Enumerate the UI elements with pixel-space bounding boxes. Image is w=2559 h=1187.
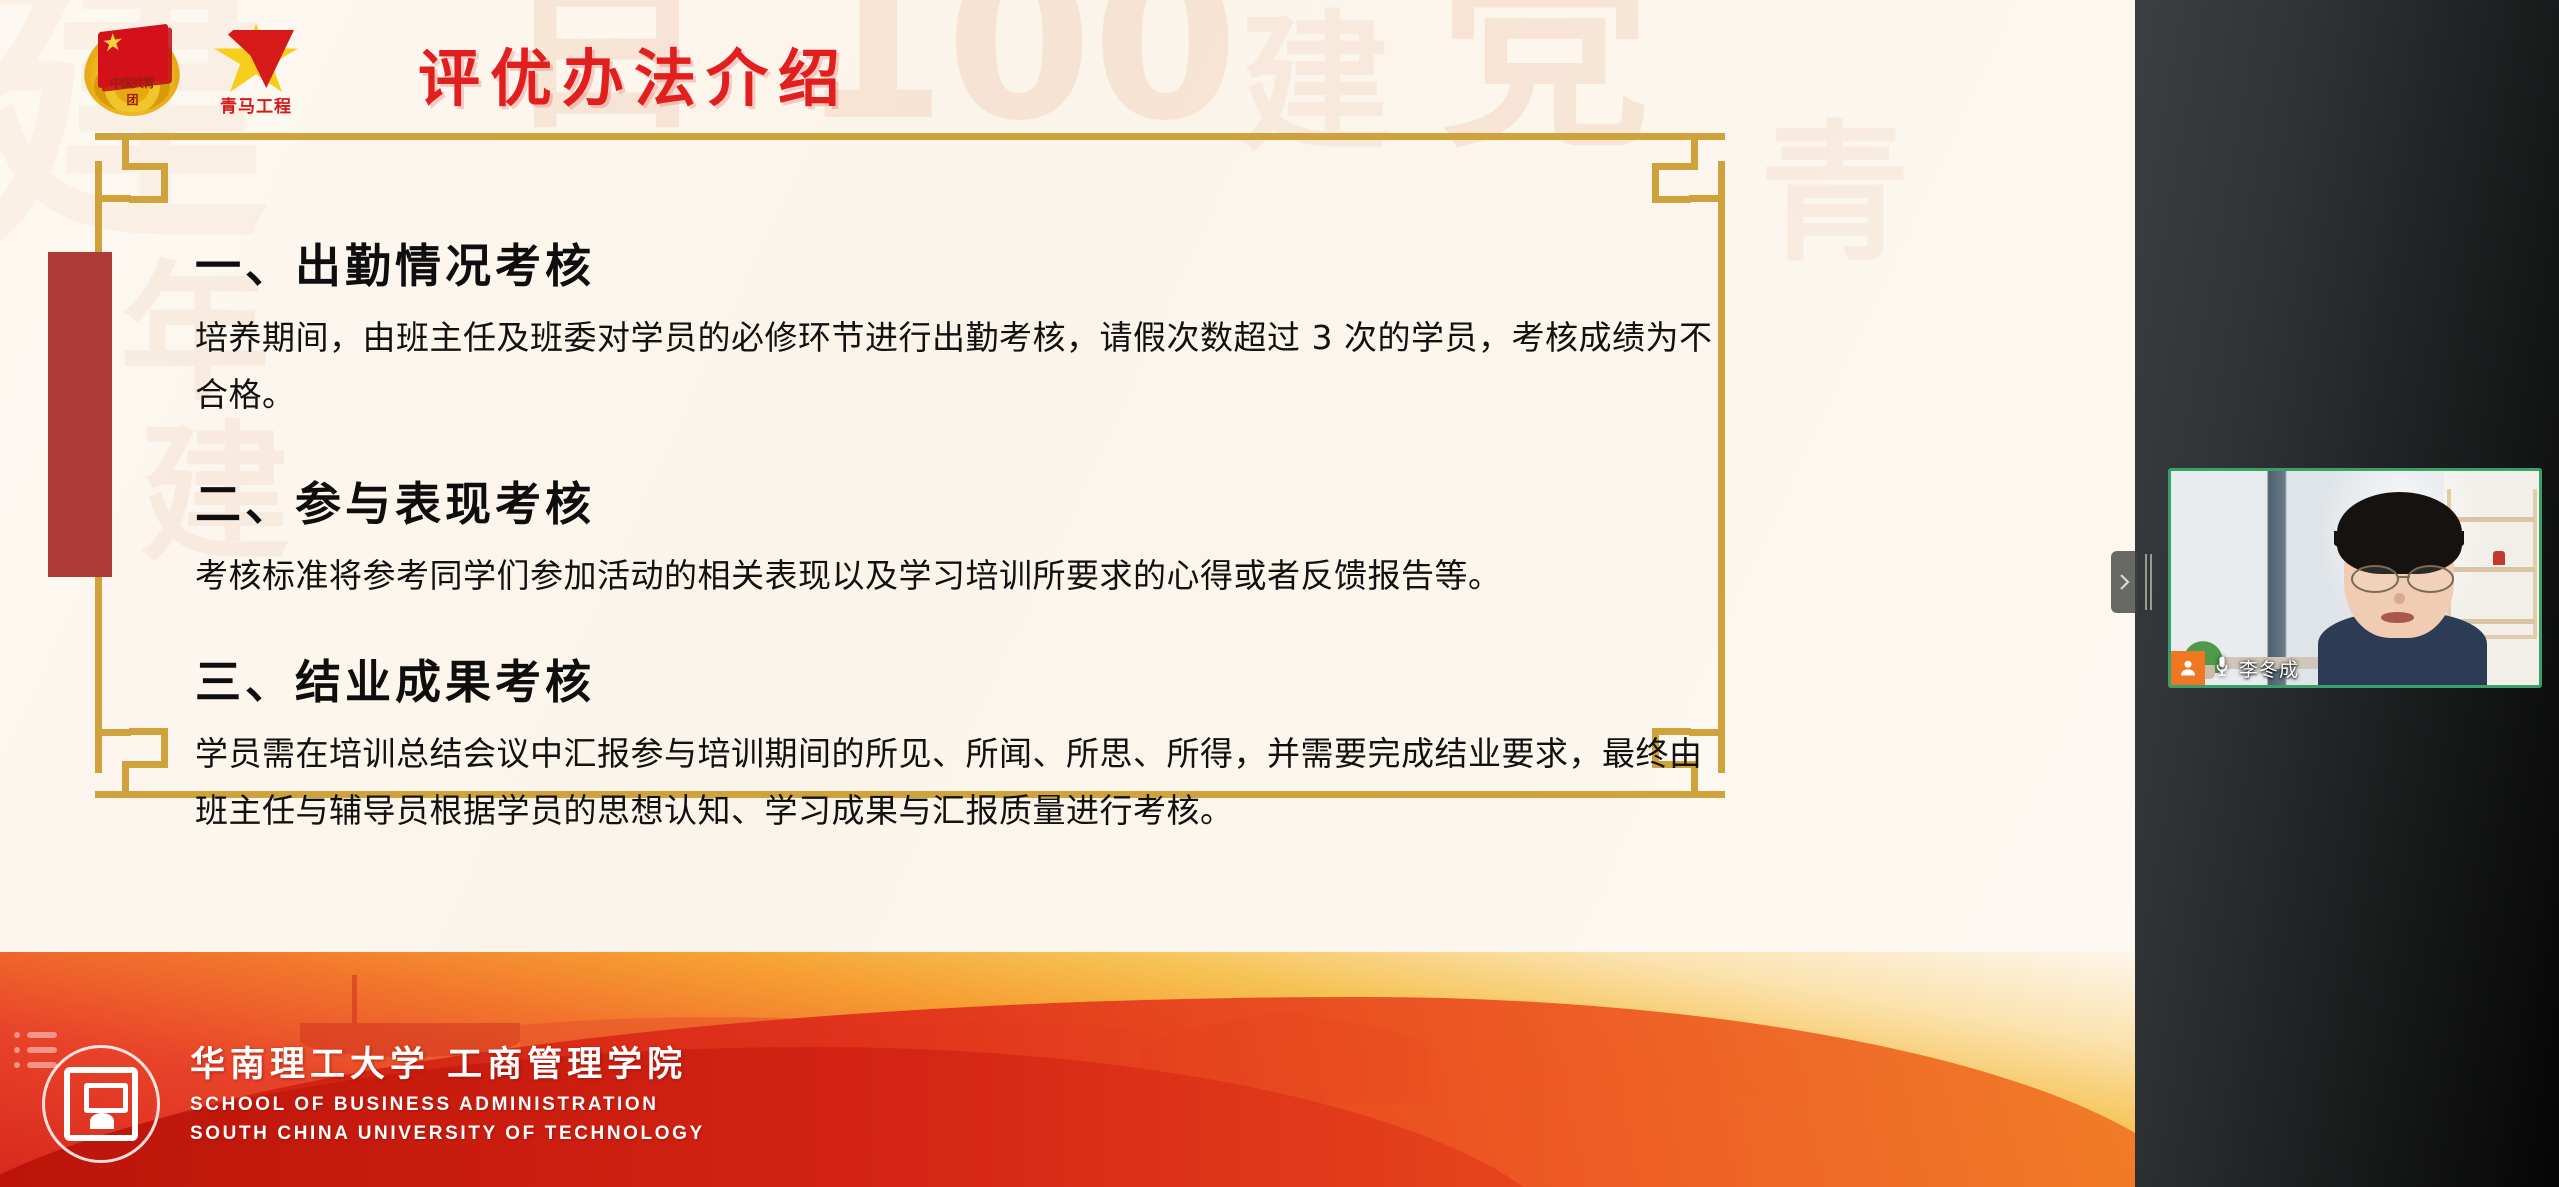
slide-list-overlay-icon[interactable] <box>14 1022 70 1078</box>
qingma-logo-label: 青马工程 <box>210 92 302 117</box>
participant-video-tile[interactable]: 李冬成 <box>2168 468 2542 688</box>
emblem-label: 中国共青团 <box>108 74 156 108</box>
participant-name: 李冬成 <box>2239 655 2299 682</box>
section-body: 学员需在培训总结会议中汇报参与培训期间的所见、所闻、所思、所得，并需要完成结业要… <box>195 726 1715 840</box>
frame-corner-ornament <box>89 127 175 207</box>
footer-text-block: 华南理工大学 工商管理学院 SCHOOL OF BUSINESS ADMINIS… <box>190 1036 705 1145</box>
frame-corner-ornament <box>1645 127 1731 207</box>
microphone-icon <box>2213 655 2231 677</box>
person-icon <box>2178 658 2198 678</box>
slide-content: 一、出勤情况考核 培养期间，由班主任及班委对学员的必修环节进行出勤考核，请假次数… <box>195 230 1715 866</box>
university-name-cn: 华南理工大学 工商管理学院 <box>190 1036 705 1087</box>
university-name-en-line2: SOUTH CHINA UNIVERSITY OF TECHNOLOGY <box>190 1123 705 1145</box>
chevron-right-icon <box>2117 572 2131 592</box>
section-heading: 二、参与表现考核 <box>195 468 1715 534</box>
participant-nameplate: 李冬成 <box>2171 651 2299 685</box>
qingma-program-logo-icon: 青马工程 <box>210 24 302 118</box>
panel-resize-handle[interactable] <box>2143 549 2153 615</box>
section-body: 培养期间，由班主任及班委对学员的必修环节进行出勤考核，请假次数超过 3 次的学员… <box>195 310 1715 424</box>
section-attendance: 一、出勤情况考核 培养期间，由班主任及班委对学员的必修环节进行出勤考核，请假次数… <box>195 230 1715 424</box>
section-heading: 一、出勤情况考核 <box>195 230 1715 296</box>
shared-slide: 建 百 100 建 党 年 建 青 中国共青团 青马工程 评优办法介绍 <box>0 0 2135 1187</box>
school-name-en-line1: SCHOOL OF BUSINESS ADMINISTRATION <box>190 1094 705 1116</box>
participant-avatar <box>2171 651 2205 685</box>
red-accent-bar <box>48 252 112 577</box>
slide-footer: 华南理工大学 工商管理学院 SCHOOL OF BUSINESS ADMINIS… <box>0 952 2135 1187</box>
collapse-panel-button[interactable] <box>2111 551 2137 613</box>
frame-corner-ornament <box>89 724 175 804</box>
screen-root: 建 百 100 建 党 年 建 青 中国共青团 青马工程 评优办法介绍 <box>0 0 2559 1187</box>
mic-status <box>2213 655 2231 682</box>
slide-title: 评优办法介绍 <box>418 28 850 118</box>
communist-youth-league-emblem-icon: 中国共青团 <box>78 20 186 116</box>
section-heading: 三、结业成果考核 <box>195 646 1715 712</box>
section-completion-results: 三、结业成果考核 学员需在培训总结会议中汇报参与培训期间的所见、所闻、所思、所得… <box>195 646 1715 840</box>
section-body: 考核标准将参考同学们参加活动的相关表现以及学习培训所要求的心得或者反馈报告等。 <box>195 548 1715 605</box>
section-participation: 二、参与表现考核 考核标准将参考同学们参加活动的相关表现以及学习培训所要求的心得… <box>195 468 1715 605</box>
slide-header: 中国共青团 青马工程 评优办法介绍 <box>0 0 2135 150</box>
